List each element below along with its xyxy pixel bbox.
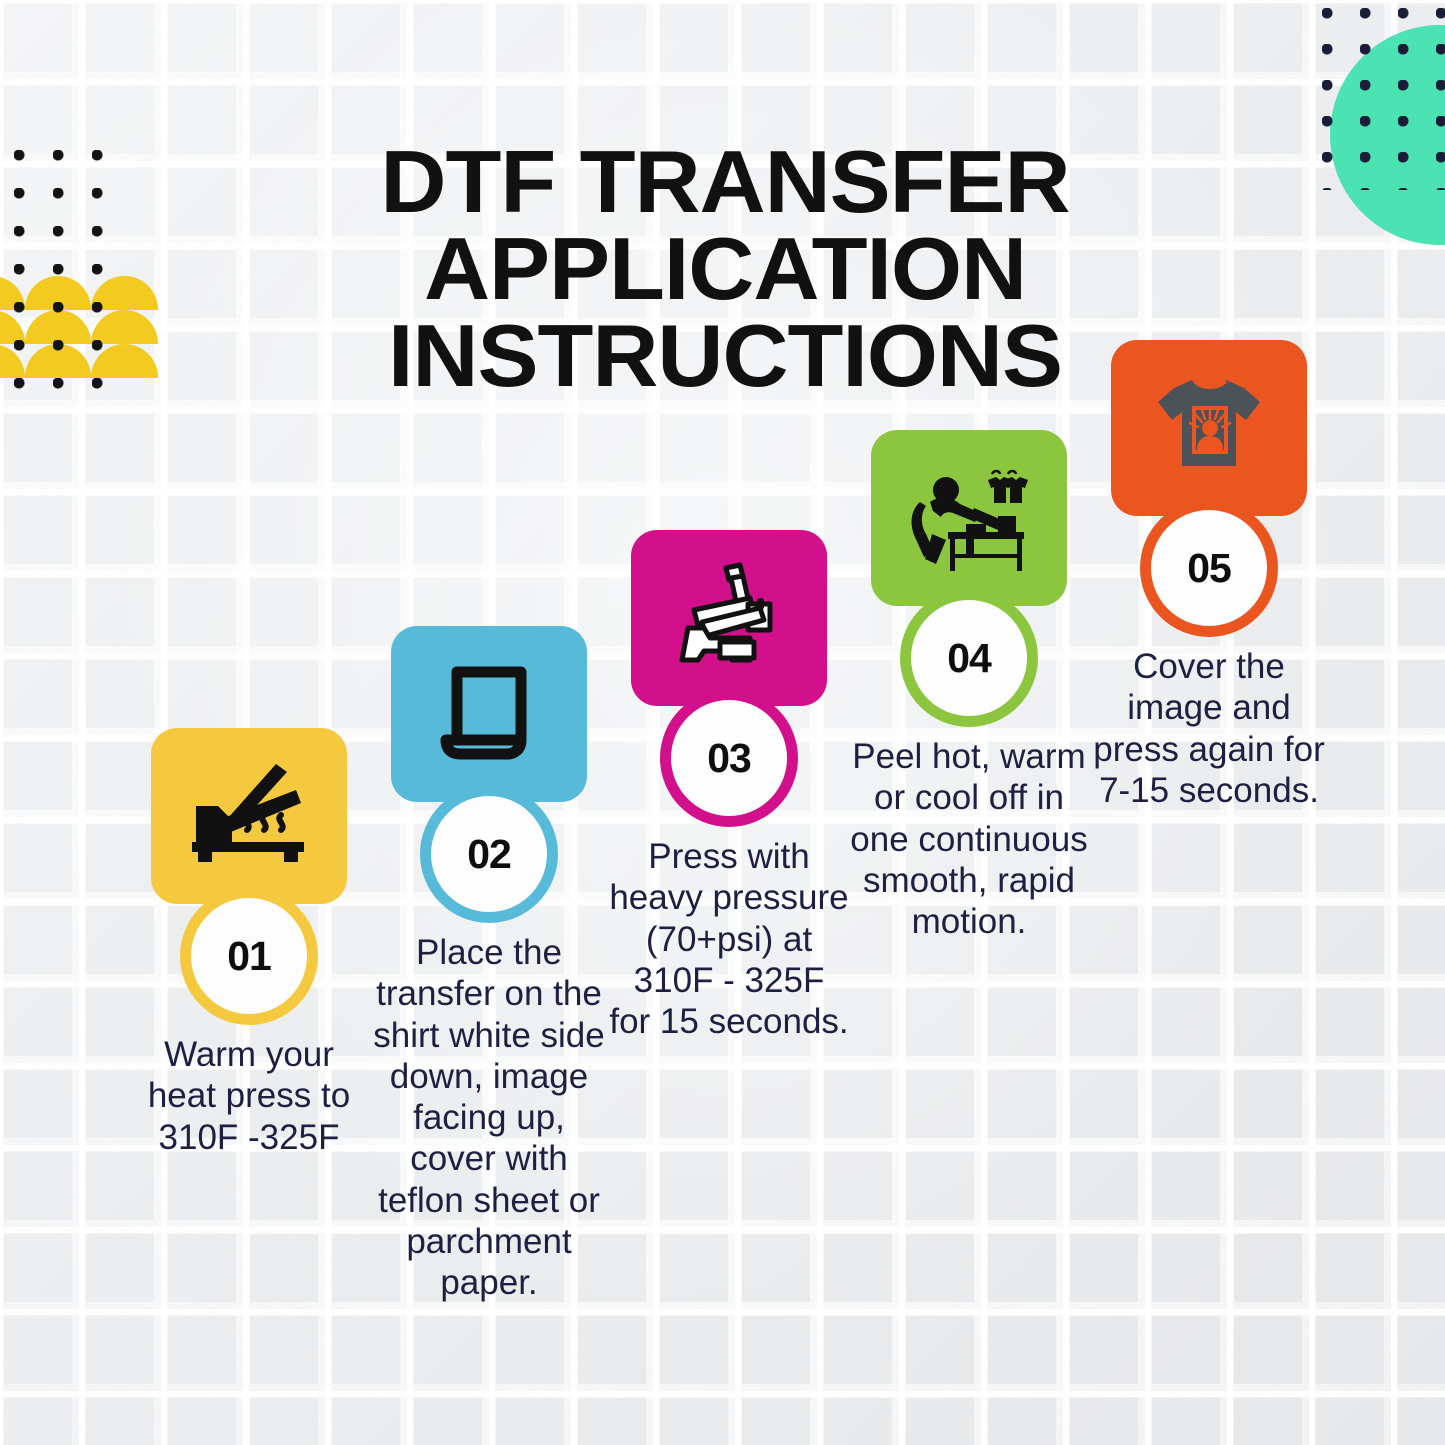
step-number-02: 02	[467, 831, 511, 878]
step-05: 05 Cover the image and press again for 7…	[1084, 340, 1334, 811]
dot-grid-left-decoration	[14, 150, 112, 400]
step-03: 03 Press with heavy pressure (70+psi) at…	[604, 530, 854, 1042]
step-number-01: 01	[227, 933, 271, 980]
step-number-04: 04	[947, 635, 991, 682]
heat-press-open-icon	[184, 756, 314, 876]
step-text-05: Cover the image and press again for 7-15…	[1089, 646, 1329, 811]
step-card-02	[391, 626, 587, 802]
step-02: 02 Place the transfer on the shirt white…	[364, 626, 614, 1304]
step-pin-03: 03	[671, 700, 787, 816]
step-text-02: Place the transfer on the shirt white si…	[369, 932, 609, 1304]
step-text-03: Press with heavy pressure (70+psi) at 31…	[609, 836, 849, 1042]
step-card-05	[1111, 340, 1307, 516]
step-pin-04: 04	[911, 600, 1027, 716]
step-card-04	[871, 430, 1067, 606]
step-04: 04 Peel hot, warm or cool off in one con…	[844, 430, 1094, 942]
step-01: 01 Warm your heat press to 310F -325F	[124, 728, 374, 1158]
step-pin-02: 02	[431, 796, 547, 912]
step-text-01: Warm your heat press to 310F -325F	[129, 1034, 369, 1158]
step-text-04: Peel hot, warm or cool off in one contin…	[849, 736, 1089, 942]
printed-tshirt-icon	[1144, 368, 1274, 488]
peel-transfer-person-icon	[904, 458, 1034, 578]
step-pin-05: 05	[1151, 510, 1267, 626]
step-pin-01: 01	[191, 898, 307, 1014]
step-card-03	[631, 530, 827, 706]
step-number-03: 03	[707, 735, 751, 782]
heat-press-pressing-icon	[664, 558, 794, 678]
step-card-01	[151, 728, 347, 904]
transfer-sheet-icon	[424, 654, 554, 774]
steps-container: 01 Warm your heat press to 310F -325F	[0, 0, 1445, 1445]
step-number-05: 05	[1187, 545, 1231, 592]
